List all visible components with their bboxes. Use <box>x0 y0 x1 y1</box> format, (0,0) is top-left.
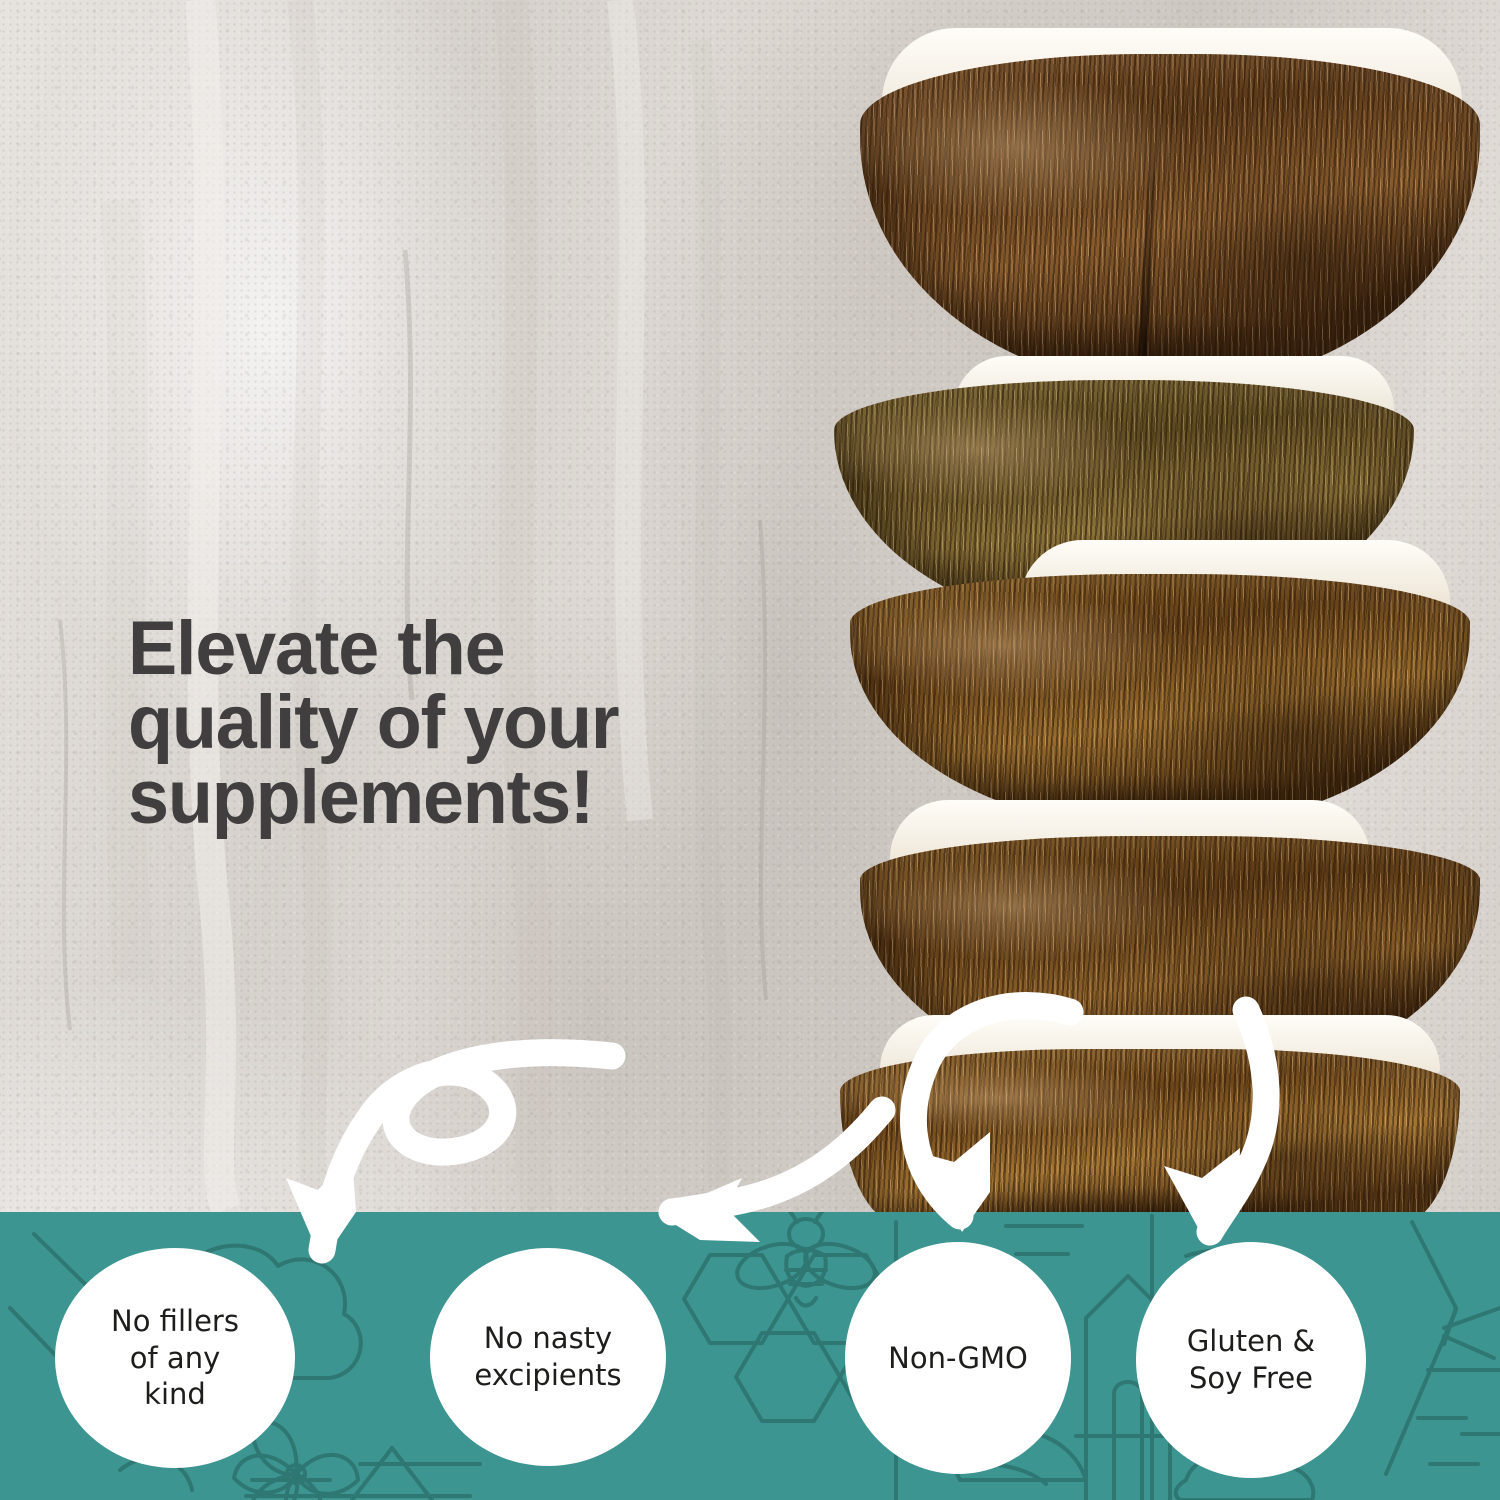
badge-non-gmo[interactable]: Non-GMO <box>845 1242 1071 1474</box>
coconut-half-5 <box>840 1015 1460 1215</box>
badge-no-fillers[interactable]: No fillers of any kind <box>55 1248 295 1468</box>
feature-banner: No fillers of any kind No nasty excipien… <box>0 1212 1500 1500</box>
badge-label: Gluten & Soy Free <box>1179 1323 1323 1396</box>
page-headline: Elevate the quality of your supplements! <box>128 612 797 835</box>
badge-label: No nasty excipients <box>466 1320 629 1393</box>
promo-image: Elevate the quality of your supplements! <box>0 0 1500 1500</box>
coconut-stack-photo <box>820 0 1500 1215</box>
coconut-half-3 <box>850 530 1470 830</box>
badge-gluten-soy-free[interactable]: Gluten & Soy Free <box>1136 1242 1366 1478</box>
badge-label: Non-GMO <box>880 1340 1036 1377</box>
badge-label: No fillers of any kind <box>103 1303 247 1413</box>
badge-no-excipients[interactable]: No nasty excipients <box>430 1248 666 1466</box>
